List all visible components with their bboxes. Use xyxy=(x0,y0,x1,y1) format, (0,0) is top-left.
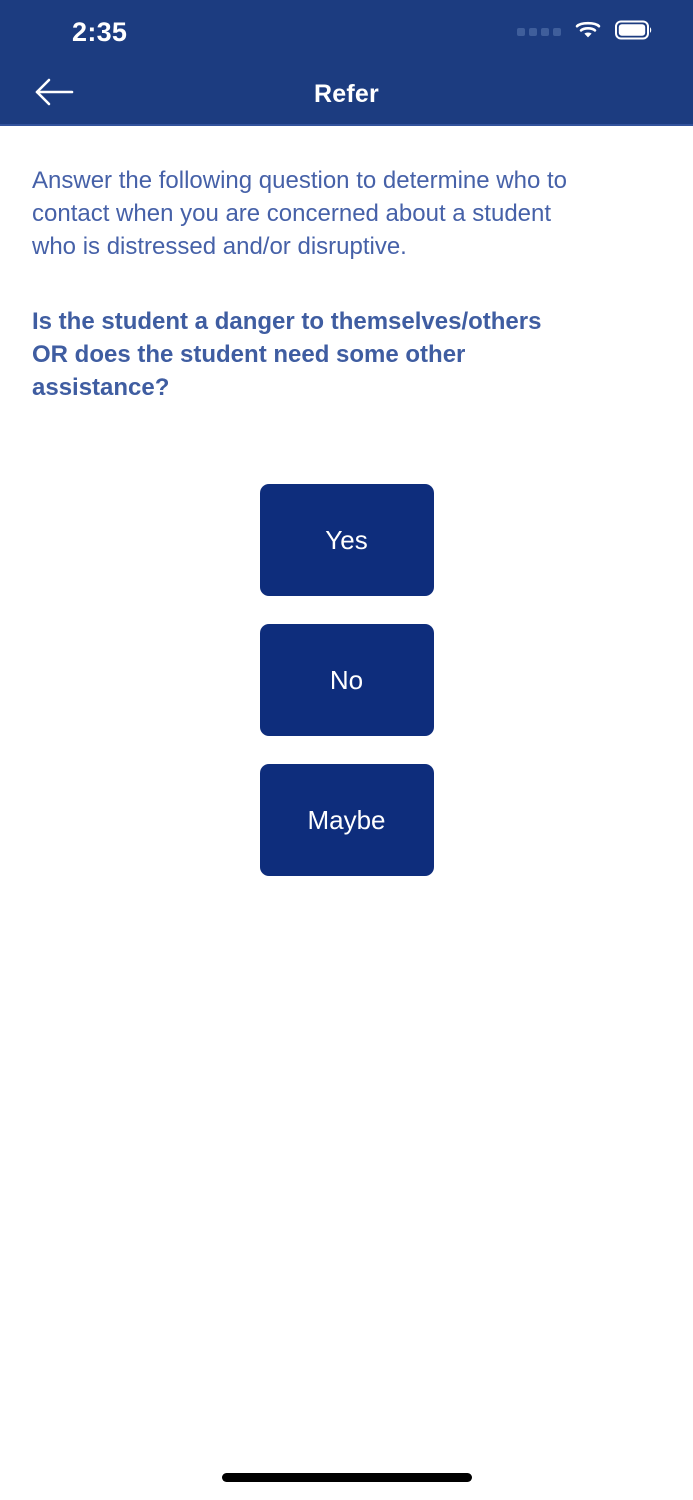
question-text: Is the student a danger to themselves/ot… xyxy=(0,263,693,404)
answer-button-no[interactable]: No xyxy=(260,624,434,736)
answer-button-maybe[interactable]: Maybe xyxy=(260,764,434,876)
home-indicator-bar[interactable] xyxy=(222,1473,472,1482)
back-arrow-icon xyxy=(33,75,75,114)
main-content: Answer the following question to determi… xyxy=(0,126,693,876)
status-bar: 2:35 xyxy=(0,0,693,64)
status-bar-time: 2:35 xyxy=(72,19,127,46)
battery-full-icon xyxy=(615,20,653,45)
back-button[interactable] xyxy=(28,72,80,116)
answer-button-yes[interactable]: Yes xyxy=(260,484,434,596)
signal-dots-icon xyxy=(517,28,561,36)
status-bar-icons xyxy=(517,20,653,45)
answer-buttons-group: Yes No Maybe xyxy=(0,484,693,876)
nav-bar: Refer xyxy=(0,64,693,126)
page-title: Refer xyxy=(0,80,693,109)
wifi-icon xyxy=(575,20,601,44)
intro-paragraph: Answer the following question to determi… xyxy=(0,126,693,263)
